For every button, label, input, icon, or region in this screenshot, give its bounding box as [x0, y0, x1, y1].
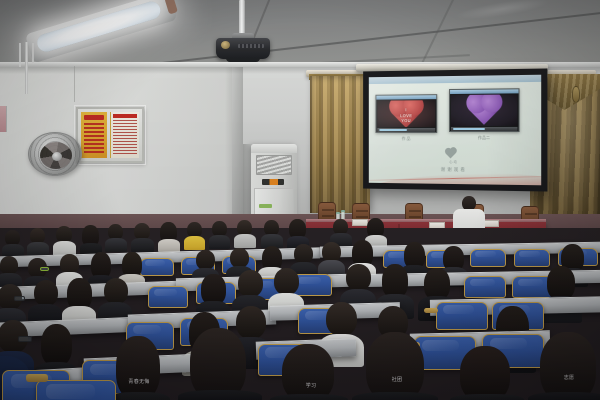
- notice-text-lines: [84, 123, 104, 155]
- hair: [116, 336, 160, 400]
- hair: [382, 264, 408, 298]
- video-canvas: [451, 94, 517, 126]
- head: [34, 280, 58, 306]
- slide-header-band: [369, 75, 541, 84]
- slide-logo: 心 动: [445, 149, 461, 165]
- projector-lens-icon: [221, 41, 230, 49]
- torso: [184, 236, 205, 250]
- audience-member: [131, 223, 154, 251]
- audience-member: [234, 220, 256, 248]
- hair: [282, 344, 334, 400]
- notice-title-bar: [84, 115, 104, 120]
- head: [294, 244, 313, 264]
- audience-member: [261, 220, 283, 248]
- window-titlebar: [450, 89, 518, 94]
- head: [60, 254, 79, 274]
- torso: [352, 392, 438, 400]
- glasses-icon: [14, 296, 25, 301]
- playback-progress-bar: [453, 128, 485, 130]
- auditorium-seat: [514, 249, 550, 267]
- torso: [27, 242, 49, 256]
- audience-member: [540, 266, 582, 322]
- head: [104, 278, 128, 304]
- torso: [108, 392, 170, 400]
- seat-armrest: [424, 308, 438, 313]
- seat-armrest: [26, 374, 48, 382]
- notice-panel-right: [110, 112, 139, 158]
- glasses-icon: [40, 267, 49, 271]
- auditorium-seat: [140, 258, 174, 276]
- presentation-slide: I LOVE YOU 作 品 作品二: [369, 75, 541, 186]
- curtain-left-shading: [310, 76, 370, 213]
- audience-member: 社团: [352, 332, 438, 400]
- notice-board: [76, 107, 144, 163]
- audience-member: [27, 228, 49, 254]
- head: [230, 248, 249, 268]
- window-titlebar: [376, 95, 436, 99]
- shirt-print-text: 志愿: [554, 376, 584, 382]
- slide-footer-text: 谢 谢 观 看: [441, 167, 465, 173]
- heart-caption-text: I LOVE YOU: [400, 108, 412, 124]
- heart-icon-logo: [446, 149, 456, 159]
- poster-edge: [0, 106, 7, 132]
- ac-vent-louvers: [256, 155, 292, 175]
- hair: [460, 346, 510, 400]
- heart-icon-purple: [469, 95, 499, 125]
- fan-support-pole: [25, 42, 28, 94]
- torso: [158, 239, 180, 252]
- ac-display-panel: [262, 179, 284, 185]
- chair-slat: [409, 210, 421, 212]
- audience-member: [80, 225, 102, 253]
- fan-pull-cord: [19, 43, 21, 67]
- slide-caption-right: 作品二: [449, 135, 519, 141]
- media-player-window-left: I LOVE YOU: [375, 94, 437, 133]
- audience-member: [53, 226, 76, 254]
- audience-member: [178, 328, 262, 400]
- shirt-print-text: 青春无悔: [122, 380, 156, 386]
- ac-top-cover: [251, 144, 297, 153]
- glasses-icon: [18, 336, 32, 342]
- audience-member: 青春无悔: [108, 336, 170, 400]
- auditorium-seat: [464, 276, 506, 298]
- chair-slat: [525, 213, 537, 215]
- head: [326, 302, 357, 336]
- media-player-window-right: [449, 88, 519, 132]
- playback-progress-bar: [379, 129, 407, 131]
- fan-cage-icon: [28, 132, 82, 176]
- shirt-print-text: 社团: [382, 378, 412, 384]
- torso: [528, 392, 600, 400]
- notice-title-bar: [113, 114, 137, 118]
- head: [274, 268, 299, 295]
- auditorium-seat: [36, 380, 116, 400]
- head: [196, 250, 215, 270]
- curtain-tieback: [572, 86, 580, 103]
- torso: [131, 238, 154, 252]
- head: [322, 242, 341, 262]
- fan-pull-cord: [32, 43, 34, 64]
- lecture-hall-photo: I LOVE YOU 作 品 作品二: [0, 0, 600, 400]
- head: [238, 270, 263, 297]
- head: [346, 264, 371, 291]
- audience-member: [158, 222, 180, 250]
- video-canvas: I LOVE YOU: [377, 100, 435, 127]
- hair: [41, 324, 72, 366]
- ac-brand-label: [259, 204, 272, 208]
- torso: [178, 390, 262, 400]
- projector-vent: [238, 44, 264, 48]
- shirt-print-text: 学习: [296, 384, 326, 390]
- slide-caption-left: 作 品: [373, 136, 441, 142]
- hair: [547, 266, 575, 300]
- audience-member: [287, 219, 309, 247]
- audience-member: [184, 222, 205, 249]
- audience-member: 学习: [270, 344, 348, 400]
- slide-logo-subtitle: 心 动: [439, 159, 467, 164]
- wall-fan: [28, 132, 82, 178]
- torso: [105, 238, 127, 252]
- torso: [450, 394, 524, 400]
- audience-member: [450, 346, 524, 400]
- auditorium-seat: [470, 249, 506, 267]
- wall-joint: [74, 66, 75, 102]
- hair: [540, 332, 596, 400]
- torso: [270, 394, 348, 400]
- fan-hub: [52, 152, 62, 161]
- notice-text-lines: [113, 120, 137, 156]
- torso: [234, 234, 256, 248]
- projector-screen-surface: I LOVE YOU 作 品 作品二: [369, 75, 541, 186]
- auditorium-seat: [436, 302, 488, 330]
- player-statusbar: [377, 128, 435, 132]
- hair: [366, 332, 424, 400]
- audience-member: [105, 224, 127, 252]
- chair-slat: [356, 210, 368, 212]
- audience-member: 志愿: [528, 332, 600, 400]
- auditorium-seat: [148, 286, 188, 308]
- chair-slat: [322, 215, 334, 217]
- notice-panel-left: [81, 112, 107, 158]
- audience-member: [209, 221, 230, 248]
- chair-slat: [409, 216, 421, 218]
- seating-area: 青春无悔 学习 社团 志愿: [0, 228, 600, 400]
- audience-member: [2, 230, 24, 256]
- torso: [209, 235, 230, 249]
- chair-slat: [322, 209, 334, 211]
- wall-corner-shadow: [225, 66, 243, 226]
- projector-screen: I LOVE YOU 作 品 作品二: [363, 68, 547, 191]
- player-statusbar: [451, 127, 517, 131]
